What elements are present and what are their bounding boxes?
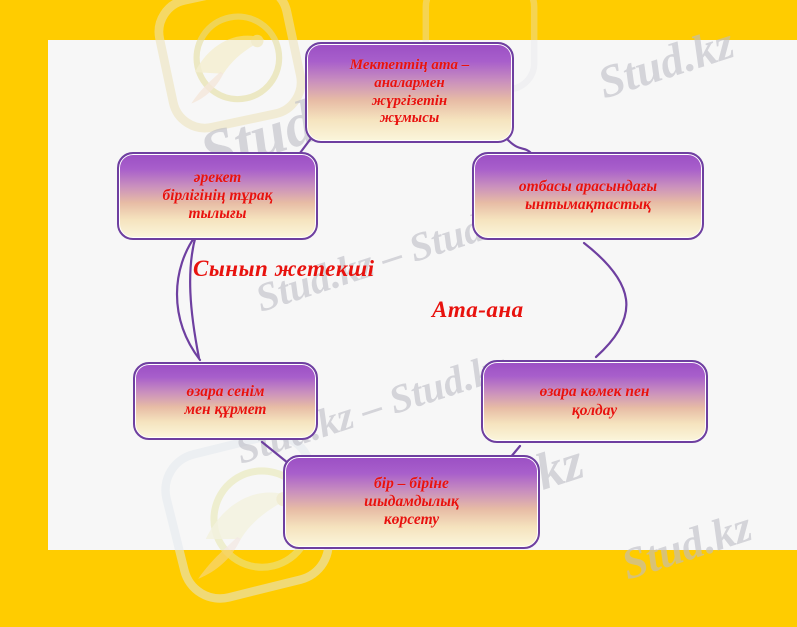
node-family-cooperation[interactable]: отбасы арасындағы ынтымақтастық <box>472 152 704 240</box>
connector-inner-arc <box>190 235 199 358</box>
node-label: Мектептің ата – аналармен жүргізетін жұм… <box>342 55 478 130</box>
connector-bottom-leftbot <box>262 442 288 463</box>
connector-righttop-rightbot <box>584 243 626 357</box>
node-label: бір – біріне шыдамдылық көрсету <box>356 473 467 532</box>
node-label: отбасы арасындағы ынтымақтастық <box>511 176 665 217</box>
node-label: әрекет бірлігінің тұрақ тылығы <box>154 167 280 226</box>
node-patience-to-each-other[interactable]: бір – біріне шыдамдылық көрсету <box>283 455 540 549</box>
node-mutual-help-support[interactable]: өзара көмек пен қолдау <box>481 360 708 443</box>
node-label: өзара көмек пен қолдау <box>532 381 658 422</box>
center-label-parent: Ата-ана <box>432 297 524 323</box>
center-label-class-teacher: Сынып жетекші <box>193 256 375 282</box>
node-unity-of-action[interactable]: әрекет бірлігінің тұрақ тылығы <box>117 152 318 240</box>
slide-canvas: Stud.kz Stud.kz – Stud.kz Stud.kz – Stud… <box>0 0 797 600</box>
node-label: өзара сенім мен құрмет <box>177 381 275 422</box>
node-mutual-trust-respect[interactable]: өзара сенім мен құрмет <box>133 362 318 440</box>
node-school-parent-work[interactable]: Мектептің ата – аналармен жүргізетін жұм… <box>305 42 514 143</box>
